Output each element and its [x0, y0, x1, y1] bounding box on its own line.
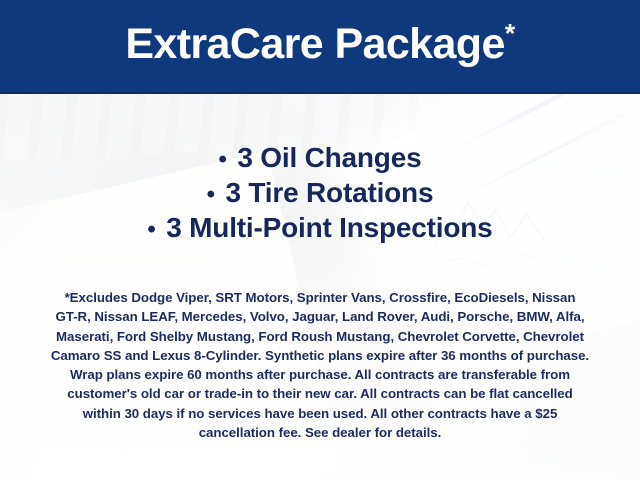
bullet-dot-icon: • — [207, 181, 218, 208]
disclaimer-line: Camaro SS and Lexus 8-Cylinder. Syntheti… — [26, 346, 614, 365]
benefit-item-tire-rotations: • 3 Tire Rotations — [0, 175, 640, 210]
disclaimer-line: *Excludes Dodge Viper, SRT Motors, Sprin… — [26, 288, 614, 307]
page-title: ExtraCare Package* — [125, 23, 514, 69]
disclaimer-line: Maserati, Ford Shelby Mustang, Ford Rous… — [26, 327, 614, 346]
benefit-label: 3 Tire Rotations — [225, 177, 433, 208]
benefit-label: 3 Multi-Point Inspections — [166, 212, 492, 243]
benefits-list: • 3 Oil Changes • 3 Tire Rotations • 3 M… — [0, 140, 640, 245]
disclaimer-line: customer's old car or trade-in to their … — [26, 384, 614, 403]
disclaimer-line: GT-R, Nissan LEAF, Mercedes, Volvo, Jagu… — [26, 307, 614, 326]
main-content: • 3 Oil Changes • 3 Tire Rotations • 3 M… — [0, 92, 640, 480]
benefit-item-multi-point-inspections: • 3 Multi-Point Inspections — [0, 210, 640, 245]
disclaimer-line: within 30 days if no services have been … — [26, 404, 614, 423]
disclaimer-line: cancellation fee. See dealer for details… — [26, 423, 614, 442]
header-bar: ExtraCare Package* — [0, 0, 640, 94]
extracare-package-banner: ExtraCare Package* • 3 Oil Changes • 3 T… — [0, 0, 640, 480]
page-title-asterisk: * — [505, 19, 515, 49]
benefit-label: 3 Oil Changes — [237, 142, 421, 173]
bullet-dot-icon: • — [147, 216, 158, 243]
benefit-item-oil-changes: • 3 Oil Changes — [0, 140, 640, 175]
disclaimer-text: *Excludes Dodge Viper, SRT Motors, Sprin… — [26, 288, 614, 442]
bullet-dot-icon: • — [219, 146, 230, 173]
page-title-text: ExtraCare Package — [125, 20, 504, 68]
disclaimer-line: Wrap plans expire 60 months after purcha… — [26, 365, 614, 384]
